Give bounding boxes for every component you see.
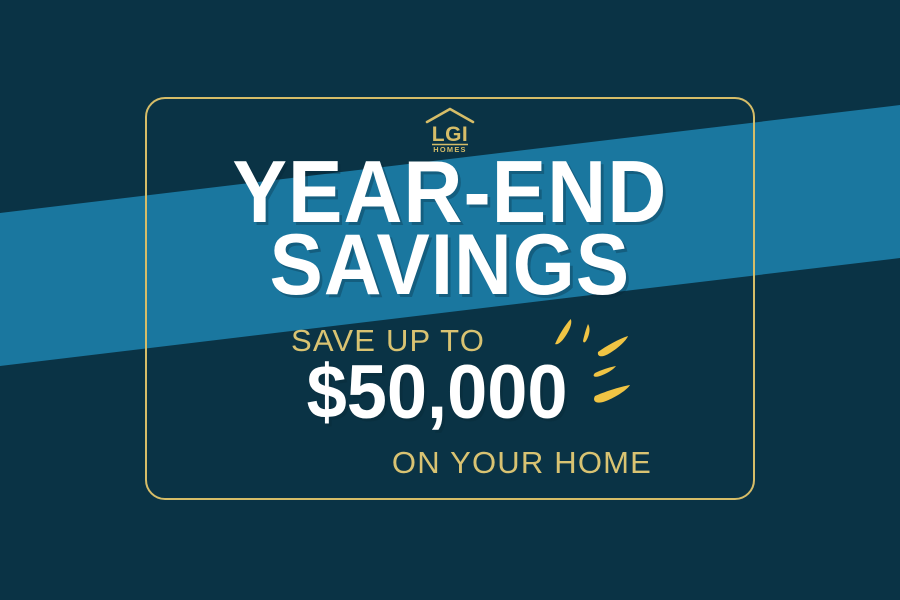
headline-line-2: SAVINGS — [233, 229, 668, 301]
offer-amount: $50,000 — [306, 355, 567, 431]
offer-amount-row: $50,000 — [145, 355, 755, 431]
offer-trailer: ON YOUR HOME — [392, 445, 652, 481]
banner-content: LGI HOMES YEAR-END SAVINGS SAVE UP TO $5… — [145, 97, 755, 500]
promotional-banner: LGI HOMES YEAR-END SAVINGS SAVE UP TO $5… — [0, 0, 900, 600]
headline: YEAR-END SAVINGS — [216, 155, 684, 301]
house-roof-icon — [427, 109, 473, 122]
